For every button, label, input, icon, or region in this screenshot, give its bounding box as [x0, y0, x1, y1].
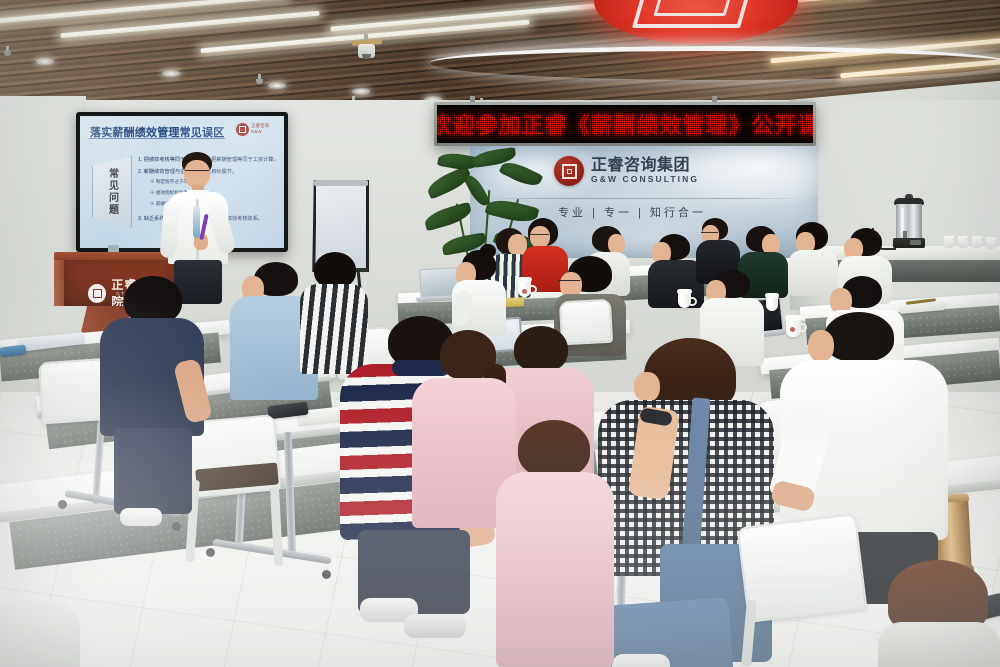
paper-cup: [986, 237, 996, 249]
led-banner-text: 欢迎参加正睿《薪酬绩效管理》公开课: [437, 108, 813, 140]
attendee: [878, 560, 1000, 667]
water-boiler-urn: [892, 198, 926, 250]
trousers: [114, 428, 192, 514]
torso: [0, 600, 80, 667]
slide-callout-text: 常见问题: [105, 168, 120, 216]
slide-logo-mark: [236, 123, 249, 136]
shoe: [120, 508, 162, 526]
caster-wheel: [206, 548, 215, 557]
ceiling-projector: [352, 34, 382, 60]
downlight-icon: [36, 58, 54, 65]
attendee: [496, 420, 616, 667]
mug: [678, 292, 691, 308]
glasses-icon: [701, 232, 718, 235]
caster-wheel: [322, 570, 331, 579]
face: [608, 234, 625, 254]
training-room-photo: 落实薪酬绩效管理常见误区 正睿咨询 G&W 常见问题 1. 把绩效考核等同于绩效…: [0, 0, 1000, 667]
slide-title-rule: [89, 138, 225, 139]
slide-logo-en: G&W: [251, 129, 269, 135]
mug: [766, 296, 778, 311]
backdrop-tagline: 专业 | 专一 | 知行合一: [558, 204, 706, 220]
mug: [518, 280, 531, 297]
slide-logo-cn: 正睿咨询: [251, 123, 269, 129]
sprinkler-icon: [256, 74, 263, 85]
glasses-icon: [558, 280, 580, 284]
company-name-cn: 正睿咨询集团: [591, 157, 699, 175]
hair: [824, 312, 894, 362]
attendee: [0, 600, 80, 667]
company-name-en: G&W CONSULTING: [591, 175, 699, 185]
microphone-icon: [193, 206, 200, 238]
hair-bun: [480, 244, 496, 258]
ceiling-light-ring: [430, 46, 1000, 80]
slide-title: 落实薪酬绩效管理常见误区: [90, 124, 224, 140]
face: [184, 160, 210, 188]
downlight-icon: [162, 70, 180, 77]
company-logo-mark: [554, 156, 584, 186]
slide-callout-box: 常见问题: [92, 156, 132, 228]
face: [530, 226, 550, 248]
paper-cup: [958, 236, 968, 248]
hair: [514, 326, 568, 372]
shoe: [612, 654, 670, 667]
downlight-icon: [268, 82, 286, 89]
ceiling-logo-glyph: [632, 0, 756, 28]
sprinkler-icon: [4, 46, 11, 57]
hair: [124, 276, 182, 324]
hair: [518, 420, 590, 478]
paper-cup: [972, 236, 982, 248]
face: [634, 372, 660, 402]
caster-wheel: [58, 500, 67, 509]
paper-cup: [944, 236, 954, 248]
glasses-icon: [530, 234, 549, 237]
torso: [878, 622, 1000, 667]
slide-logo: 正睿咨询 G&W: [236, 121, 278, 137]
shoe: [404, 614, 466, 638]
backdrop-logo: 正睿咨询集团 G&W CONSULTING: [554, 156, 699, 186]
hair: [314, 252, 356, 288]
led-banner: 欢迎参加正睿《薪酬绩效管理》公开课: [434, 102, 816, 146]
downlight-icon: [352, 88, 370, 95]
face: [808, 330, 834, 362]
attendee: [96, 276, 206, 528]
glasses-icon: [185, 170, 209, 174]
torso: [496, 472, 614, 667]
